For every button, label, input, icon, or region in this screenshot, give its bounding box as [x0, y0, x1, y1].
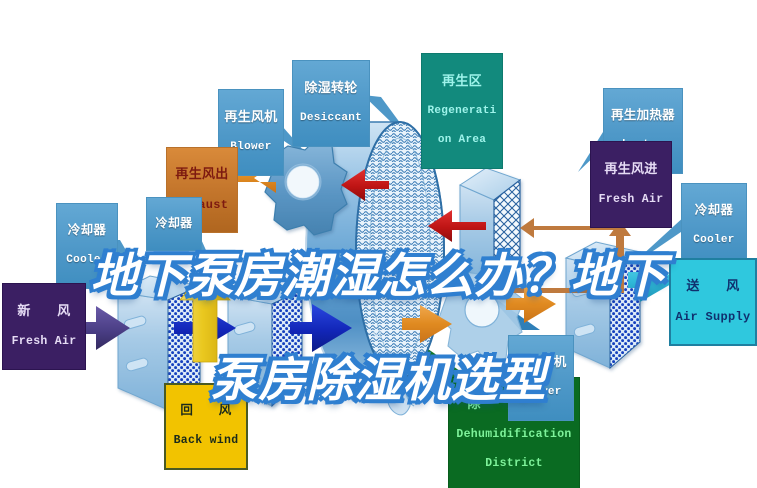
supply-cooler-coil — [566, 242, 640, 368]
label-back-wind[interactable]: 回 风 Back wind — [164, 383, 248, 470]
svg-text:xt: xt — [373, 329, 382, 341]
diagram-canvas: xt — [0, 0, 757, 488]
label-cooler-left-outer[interactable]: 冷却器 Cooler — [56, 203, 118, 289]
label-cooler-left-inner[interactable]: 冷却器 — [146, 197, 202, 251]
label-cooler-right[interactable]: 冷却器 Cooler — [681, 183, 747, 269]
label-desiccant-wheel[interactable]: 除湿转轮 Desiccant — [292, 60, 370, 147]
label-fresh-air-intake[interactable]: 新 风 Fresh Air — [2, 283, 86, 370]
label-dehumidification-blower[interactable]: 除湿风机 Blower — [508, 335, 574, 421]
label-regeneration-area[interactable]: 再生区 Regenerati on Area — [421, 53, 503, 169]
label-air-supply[interactable]: 送 风 Air Supply — [669, 258, 757, 346]
label-regeneration-fresh-air[interactable]: 再生风进 Fresh Air — [590, 141, 672, 228]
